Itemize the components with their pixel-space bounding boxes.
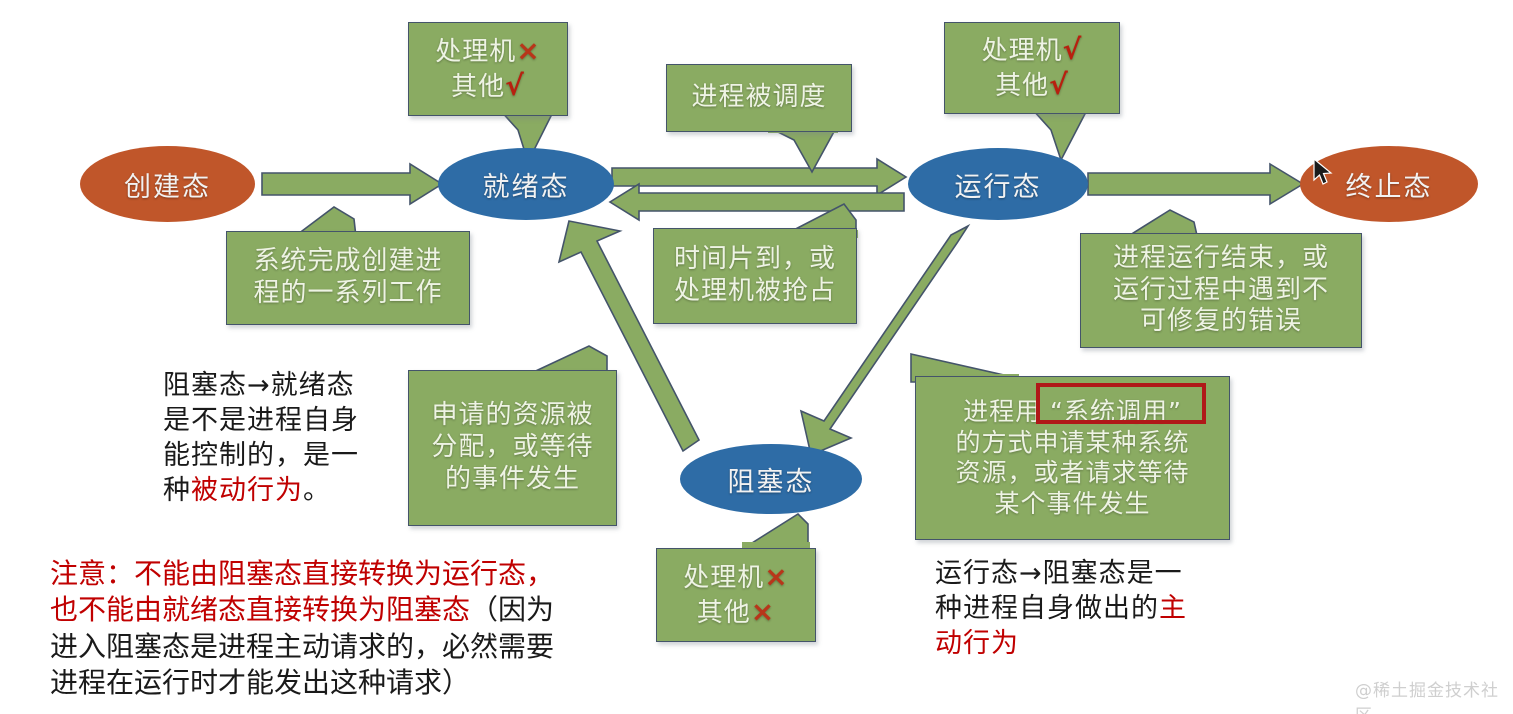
- state-label-ready: 就绪态: [483, 165, 570, 204]
- arrow-created-to-ready: [262, 164, 442, 204]
- note-rtb-line-2: 种进程自身做出的主: [935, 591, 1235, 626]
- warning-line-3: 进入阻塞态是进程主动请求的，必然需要: [50, 629, 650, 665]
- callout-blocked-mark-1: ×: [764, 560, 788, 593]
- callout-running-to-blocked: 进程用 “系统调用” 的方式申请某种系统 资源，或者请求等待 某个事件发生: [915, 376, 1230, 540]
- callout-ready-label-1: 处理机: [435, 37, 516, 67]
- arrow-running-to-terminated: [1088, 164, 1303, 204]
- callout-running-line-1: 处理机√: [982, 33, 1083, 68]
- callout-create-to-ready: 系统完成创建进 程的一系列工作: [226, 231, 470, 325]
- callout-running-resources: 处理机√ 其他√: [944, 22, 1120, 114]
- note-btr-line-2: 是不是进程自身: [163, 403, 413, 438]
- callout-terminate-line-2: 运行过程中遇到不: [1113, 275, 1329, 307]
- callout-ready-mark-2: √: [505, 69, 525, 102]
- warning-line-2-black: （因为: [470, 593, 554, 626]
- callout-syscall-line-2: 的方式申请某种系统: [955, 428, 1189, 459]
- callout-terminate-line-3: 可修复的错误: [1140, 306, 1302, 338]
- watermark: @稀土掘金技术社区: [1355, 676, 1513, 714]
- callout-blocked-to-ready: 申请的资源被 分配，或等待 的事件发生: [408, 370, 617, 526]
- state-label-blocked: 阻塞态: [728, 460, 815, 499]
- callout-timeslice-line-1: 时间片到，或: [674, 244, 836, 276]
- callout-ready-mark-1: ×: [516, 34, 540, 67]
- warning-line-4: 进程在运行时才能发出这种请求）: [50, 665, 650, 701]
- callout-timeslice-line-2: 处理机被抢占: [674, 276, 836, 308]
- callout-terminate-line-1: 进程运行结束，或: [1113, 243, 1329, 275]
- callout-tail-ready-to-running: [760, 128, 870, 176]
- note-rtb-prefix: 种进程自身做出的: [935, 593, 1159, 624]
- callout-resource-line-2: 分配，或等待: [431, 432, 593, 464]
- callout-resource-line-3: 的事件发生: [445, 464, 580, 496]
- callout-ready-label-2: 其他: [451, 72, 505, 102]
- callout-running-mark-1: √: [1063, 33, 1083, 66]
- callout-create-line-1: 系统完成创建进: [253, 246, 442, 278]
- callout-ready-to-running: 进程被调度: [666, 64, 852, 132]
- warning-line-1: 注意：不能由阻塞态直接转换为运行态，: [50, 556, 650, 592]
- note-btr-line-4: 种被动行为。: [163, 473, 413, 508]
- note-btr-red: 被动行为: [191, 475, 303, 506]
- state-label-running: 运行态: [955, 165, 1042, 204]
- mouse-cursor-icon: [1313, 158, 1335, 188]
- callout-syscall-line-3: 资源，或者请求等待: [955, 458, 1189, 489]
- note-running-to-blocked: 运行态→阻塞态是一 种进程自身做出的主 动行为: [935, 556, 1235, 661]
- callout-running-label-2: 其他: [995, 71, 1049, 101]
- callout-schedule-line-1: 进程被调度: [691, 82, 826, 114]
- warning-line-2: 也不能由就绪态直接转换为阻塞态（因为: [50, 592, 650, 628]
- note-blocked-to-ready: 阻塞态→就绪态 是不是进程自身 能控制的，是一 种被动行为。: [163, 368, 413, 508]
- state-node-running[interactable]: 运行态: [908, 148, 1088, 220]
- state-label-terminated: 终止态: [1346, 165, 1433, 204]
- callout-ready-line-1: 处理机×: [435, 34, 540, 69]
- state-node-ready[interactable]: 就绪态: [438, 148, 614, 220]
- callout-running-mark-2: √: [1049, 68, 1069, 101]
- process-state-diagram-slide: .ar{fill:#8aab62;stroke:#44546a;stroke-w…: [0, 0, 1513, 714]
- note-btr-prefix: 种: [163, 475, 191, 506]
- callout-ready-resources: 处理机× 其他√: [408, 22, 568, 116]
- callout-blocked-mark-2: ×: [751, 595, 775, 628]
- state-node-blocked[interactable]: 阻塞态: [680, 444, 862, 514]
- note-warning: 注意：不能由阻塞态直接转换为运行态， 也不能由就绪态直接转换为阻塞态（因为 进入…: [50, 556, 650, 702]
- state-label-created: 创建态: [124, 165, 211, 204]
- callout-blocked-resources: 处理机× 其他×: [656, 548, 816, 642]
- callout-create-line-2: 程的一系列工作: [253, 278, 442, 310]
- callout-syscall-line-1: 进程用 “系统调用”: [963, 397, 1182, 428]
- callout-blocked-label-1: 处理机: [683, 563, 764, 593]
- callout-running-to-terminated: 进程运行结束，或 运行过程中遇到不 可修复的错误: [1080, 233, 1362, 348]
- callout-resource-line-1: 申请的资源被: [431, 400, 593, 432]
- note-btr-suffix: 。: [303, 475, 331, 506]
- state-node-created[interactable]: 创建态: [80, 146, 255, 222]
- warning-line-2-red: 也不能由就绪态直接转换为阻塞态: [50, 593, 470, 626]
- callout-running-to-ready: 时间片到，或 处理机被抢占: [653, 228, 857, 324]
- callout-ready-line-2: 其他√: [451, 69, 525, 104]
- callout-running-line-2: 其他√: [995, 68, 1069, 103]
- callout-syscall-line-4: 某个事件发生: [994, 489, 1150, 520]
- callout-blocked-line-2: 其他×: [697, 595, 775, 630]
- note-rtb-line-1: 运行态→阻塞态是一: [935, 556, 1235, 591]
- callout-running-label-1: 处理机: [982, 36, 1063, 66]
- note-btr-line-3: 能控制的，是一: [163, 438, 413, 473]
- note-btr-line-1: 阻塞态→就绪态: [163, 368, 413, 403]
- note-rtb-line-3: 动行为: [935, 626, 1235, 661]
- note-rtb-red-1: 主: [1159, 593, 1187, 624]
- callout-blocked-line-1: 处理机×: [683, 560, 788, 595]
- callout-blocked-label-2: 其他: [697, 598, 751, 628]
